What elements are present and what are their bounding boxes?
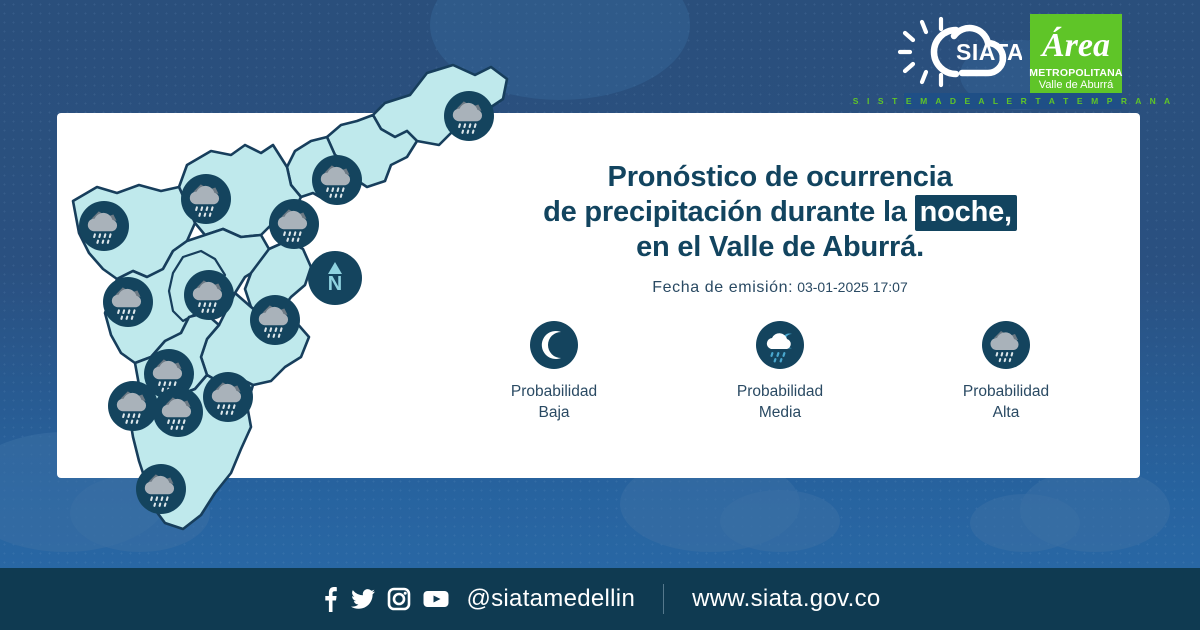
legend-label-baja: Probabilidad Baja [511, 381, 597, 423]
marker-caldas-norte [203, 372, 253, 427]
social-icon-group [319, 586, 450, 612]
marker-barbosa [444, 91, 494, 146]
background-cloud-shape [970, 494, 1080, 552]
marker-copacabana [269, 199, 319, 254]
footer-divider [663, 584, 664, 614]
tagline-bar: S I S T E M A D E A L E R T A T E M P R … [904, 93, 1122, 109]
title-line-3: en el Valle de Aburrá. [470, 230, 1090, 265]
compass-label: N [328, 273, 342, 295]
marker-medellin [184, 270, 234, 325]
emission-date-label: Fecha de emisión: [652, 279, 793, 296]
area-script-text: Área [1040, 27, 1110, 64]
legend-label-alta: Probabilidad Alta [963, 381, 1049, 423]
area-metropolitana-logo: Área METROPOLITANA Valle de Aburrá [1030, 14, 1122, 94]
marker-sabaneta [153, 387, 203, 442]
legend-item-alta: Probabilidad Alta [931, 321, 1081, 423]
title-highlight-noche: noche, [915, 195, 1017, 231]
youtube-icon[interactable] [422, 586, 450, 612]
legend-label-media: Probabilidad Media [737, 381, 823, 423]
footer-bar: @siatamedellin www.siata.gov.co [0, 568, 1200, 630]
compass-north-icon: N [308, 251, 362, 310]
emission-date-value: 03-01-2025 17:07 [797, 279, 908, 295]
title-line-1: Pronóstico de ocurrencia [470, 160, 1090, 195]
area-logo-line1: METROPOLITANA [1029, 68, 1122, 79]
infographic-root: SIATA Área METROPOLITANA Valle de Aburrá… [0, 0, 1200, 630]
area-logo-line2: Valle de Aburrá [1039, 79, 1113, 91]
legend-item-media: Probabilidad Media [705, 321, 855, 423]
logo-group: SIATA Área METROPOLITANA Valle de Aburrá [892, 14, 1122, 94]
title-line-2-text: de precipitación durante la [543, 196, 907, 228]
text-column: Pronóstico de ocurrencia de precipitació… [470, 160, 1090, 423]
legend: Probabilidad Baja [470, 321, 1090, 423]
marker-san-pedro [79, 201, 129, 256]
legend-item-baja: Probabilidad Baja [479, 321, 629, 423]
area-script-icon: Área [1030, 20, 1122, 66]
twitter-icon[interactable] [350, 586, 376, 612]
siata-logo-text: SIATA [956, 39, 1022, 65]
page-title: Pronóstico de ocurrencia de precipitació… [470, 160, 1090, 265]
cloud-rain-icon [982, 321, 1030, 369]
social-handle[interactable]: @siatamedellin [466, 585, 635, 613]
tagline-text: S I S T E M A D E A L E R T A T E M P R … [853, 96, 1174, 106]
title-line-2: de precipitación durante la noche, [470, 195, 1090, 230]
instagram-icon[interactable] [387, 586, 411, 612]
marker-bello [181, 174, 231, 229]
moon-icon [530, 321, 578, 369]
website-url[interactable]: www.siata.gov.co [692, 585, 880, 613]
marker-girardota [312, 155, 362, 210]
emission-date: Fecha de emisión:03-01-2025 17:07 [470, 279, 1090, 297]
siata-logo: SIATA [892, 14, 1022, 90]
marker-medellin-norte [103, 277, 153, 332]
facebook-icon[interactable] [319, 586, 339, 612]
marker-envigado [250, 295, 300, 350]
marker-la-estrella [108, 381, 158, 436]
marker-caldas [136, 464, 186, 519]
cloud-moon-rain-icon [756, 321, 804, 369]
background-cloud-shape [720, 490, 840, 552]
